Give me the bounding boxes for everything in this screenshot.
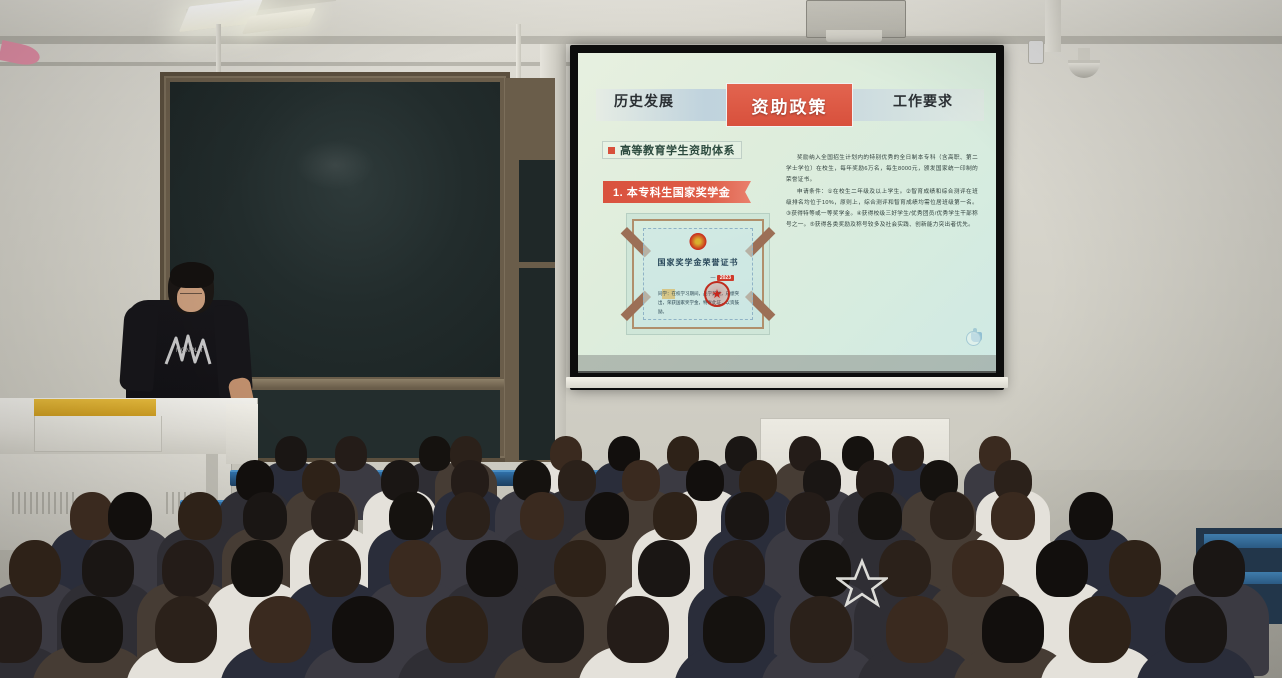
certificate-border: 国家奖学金荣誉证书 — 2023 同学：在校学习期间，品学兼优，成绩突出，荣获国…	[632, 219, 764, 329]
slide-mascot-logo-icon	[966, 331, 986, 357]
audience-head	[522, 596, 584, 663]
slide-section-heading-label: 高等教育学生资助体系	[620, 142, 735, 158]
audience-head	[155, 596, 217, 663]
projector-mount	[826, 30, 882, 42]
screen-bottom-bar[interactable]	[566, 377, 1008, 388]
audience-head	[991, 492, 1035, 540]
tab-work-requirements[interactable]: 工作要求	[893, 91, 953, 111]
audience-head	[554, 540, 606, 597]
hoodie-star-graphic	[836, 556, 888, 608]
svg-text:MONOLIT: MONOLIT	[176, 348, 204, 354]
podium-vent	[12, 492, 78, 514]
slide-item-banner-label: 1. 本专科生国家奖学金	[613, 184, 730, 200]
audience-head	[790, 596, 852, 663]
national-emblem-icon	[690, 233, 707, 250]
audience-head	[1165, 596, 1227, 663]
audience-head	[9, 540, 61, 597]
certificate-number: — 2023	[710, 275, 734, 281]
audience-head	[178, 492, 222, 540]
audience-head	[858, 492, 902, 540]
audience-head	[231, 540, 283, 597]
ceiling-band	[0, 36, 1282, 44]
audience-head	[389, 540, 441, 597]
chalkboard-side-panel	[519, 160, 555, 460]
bullet-square-icon	[608, 147, 615, 154]
audience-head	[243, 492, 287, 540]
tab-funding-policy-label: 资助政策	[752, 93, 828, 118]
projection-screen[interactable]: 历史发展 资助政策 工作要求 高等教育学生资助体系 1. 本专科生国家奖学金	[578, 53, 996, 371]
audience-head	[713, 540, 765, 597]
audience-head	[389, 492, 433, 540]
audience-head	[309, 540, 361, 597]
audience-head	[558, 460, 596, 501]
slide-paragraph-2: 申请条件：①在校生二年级及以上学生。②智育成绩和综合测评在班级排名均位于10%，…	[786, 187, 978, 232]
chalk-smudge	[295, 140, 375, 190]
mascot-head	[966, 331, 981, 346]
audience-head	[1193, 540, 1245, 597]
screen-lower-shading	[578, 355, 996, 373]
audience-head	[653, 492, 697, 540]
audience-head	[1109, 540, 1161, 597]
audience-head	[61, 596, 123, 663]
certificate-title: 国家奖学金荣誉证书	[644, 257, 752, 268]
audience-head	[426, 596, 488, 663]
audience-head	[446, 492, 490, 540]
audience-head	[686, 460, 724, 501]
podium-front-panel	[34, 416, 162, 452]
tab-history[interactable]: 历史发展	[614, 91, 674, 111]
speaker-left-shoulder	[119, 304, 159, 392]
slide-item-banner: 1. 本专科生国家奖学金	[603, 181, 751, 203]
wall-seam	[0, 62, 575, 66]
audience-head	[311, 492, 355, 540]
podium-wood-edge	[34, 399, 156, 416]
audience-head	[886, 596, 948, 663]
audience-head	[419, 436, 451, 471]
tab-funding-policy-active[interactable]: 资助政策	[726, 83, 853, 127]
audience-head	[249, 596, 311, 663]
audience-head	[703, 596, 765, 663]
speaker-face	[177, 284, 205, 312]
audience-head	[892, 436, 924, 471]
presentation-slide: 历史发展 资助政策 工作要求 高等教育学生资助体系 1. 本专科生国家奖学金	[578, 53, 996, 371]
audience-head	[108, 492, 152, 540]
audience-head	[725, 492, 769, 540]
audience-head	[607, 596, 669, 663]
audience-head	[982, 596, 1044, 663]
audience-head	[952, 540, 1004, 597]
audience-head	[585, 492, 629, 540]
audience-head	[332, 596, 394, 663]
audience-head	[638, 540, 690, 597]
audience-head	[82, 540, 134, 597]
certificate-inner-panel: 国家奖学金荣誉证书 — 2023 同学：在校学习期间，品学兼优，成绩突出，荣获国…	[643, 228, 753, 320]
audience-head	[1069, 596, 1131, 663]
audience-head	[520, 492, 564, 540]
audience-head	[1069, 492, 1113, 540]
chalkboard-side-divider	[519, 262, 555, 268]
audience-head	[622, 460, 660, 501]
wall-sensor-icon	[1028, 40, 1044, 64]
podium-right-panel	[226, 404, 258, 464]
audience-head	[786, 492, 830, 540]
audience-head	[162, 540, 214, 597]
speaker-hair	[170, 262, 214, 288]
certificate-image: 国家奖学金荣誉证书 — 2023 同学：在校学习期间，品学兼优，成绩突出，荣获国…	[626, 213, 770, 335]
audience-head	[335, 436, 367, 471]
audience-head	[466, 540, 518, 597]
ceiling-beam	[1045, 0, 1061, 52]
official-seal-icon	[704, 281, 730, 307]
slide-section-heading: 高等教育学生资助体系	[602, 141, 742, 159]
audience-head	[1036, 540, 1088, 597]
slide-paragraph-1: 奖励纳入全国招生计划内的特别优秀的全日制本专科（含高职、第二学士学位）在校生，每…	[786, 153, 978, 187]
slide-body-text: 奖励纳入全国招生计划内的特别优秀的全日制本专科（含高职、第二学士学位）在校生，每…	[786, 153, 978, 231]
speaker-glasses-icon	[180, 293, 202, 298]
classroom-photo: 历史发展 资助政策 工作要求 高等教育学生资助体系 1. 本专科生国家奖学金	[0, 0, 1282, 678]
audience-head	[930, 492, 974, 540]
tshirt-graphic: MONOLIT	[162, 330, 214, 370]
audience-head	[275, 436, 307, 471]
